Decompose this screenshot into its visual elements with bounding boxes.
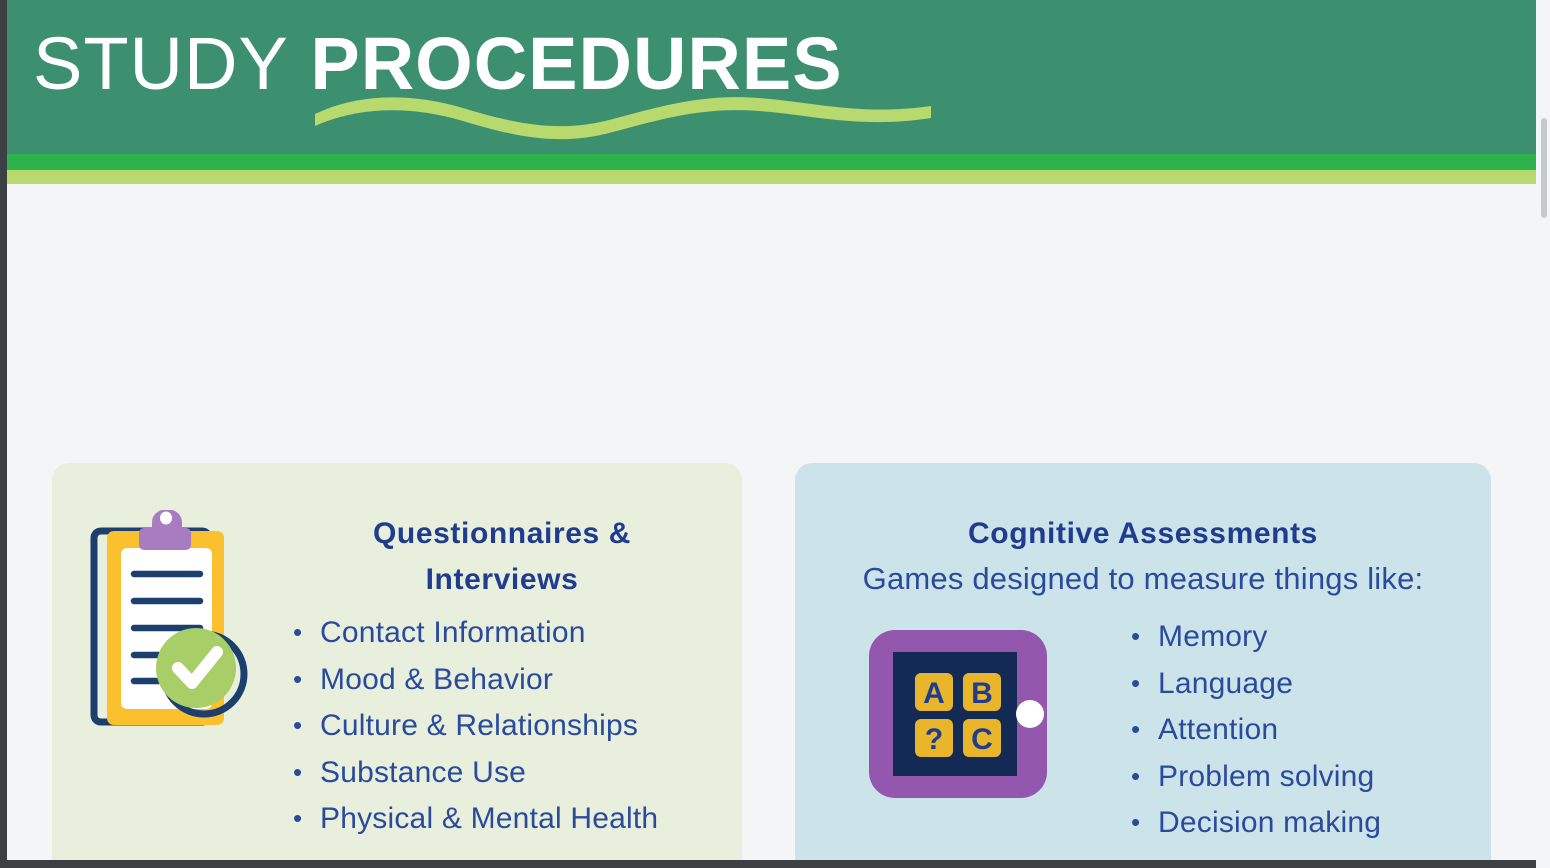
accent-bar-medium-green [7,154,1536,170]
list-item: Physical & Mental Health [293,796,722,843]
slide-header: STUDY PROCEDURES [7,0,1536,154]
left-card-text: Questionnaires & Interviews Contact Info… [282,511,722,843]
list-item: Contact Information [293,610,722,657]
right-card-heading-block: Cognitive Assessments Games designed to … [795,463,1491,601]
right-card-body: A B ? C Memory Language Attention Proble [795,601,1491,831]
right-card-bullet-list: Memory Language Attention Problem solvin… [1131,614,1381,847]
vertical-scrollbar[interactable] [1536,0,1550,868]
card-questionnaires-interviews: Questionnaires & Interviews Contact Info… [52,463,742,860]
list-item: Language [1131,661,1381,708]
right-card-title: Cognitive Assessments [795,511,1491,557]
left-card-title: Questionnaires & Interviews [282,511,722,603]
list-item: Attention [1131,707,1381,754]
right-card-text: Memory Language Attention Problem solvin… [1131,614,1381,847]
tablet-tile-letter-a: A [923,677,945,710]
list-item: Memory [1131,614,1381,661]
right-card-lead-text: Games designed to measure things like: [795,557,1491,601]
tablet-tile-letter-question: ? [925,723,943,756]
list-item: Problem solving [1131,754,1381,801]
scrollbar-thumb[interactable] [1541,118,1547,218]
tablet-game-icon: A B ? C [867,626,1077,801]
page-title: STUDY PROCEDURES [33,22,843,106]
list-item: Culture & Relationships [293,703,722,750]
slide-body: Questionnaires & Interviews Contact Info… [7,184,1536,860]
list-item: Decision making [1131,800,1381,847]
slide-canvas: STUDY PROCEDURES [7,0,1536,860]
left-card-bullet-list: Contact Information Mood & Behavior Cult… [282,610,722,843]
clipboard-check-icon [82,510,267,740]
presentation-viewer: STUDY PROCEDURES [0,0,1550,868]
left-card-title-line2: Interviews [426,563,579,596]
list-item: Mood & Behavior [293,657,722,704]
card-cognitive-assessments: Cognitive Assessments Games designed to … [795,463,1491,860]
title-word-bold: PROCEDURES [310,22,842,105]
list-item: Substance Use [293,750,722,797]
accent-bar-light-green [7,170,1536,184]
tablet-tile-letter-c: C [971,723,993,756]
left-card-title-line1: Questionnaires & [373,517,631,550]
title-word-light: STUDY [33,22,289,105]
tablet-tile-letter-b: B [971,677,993,710]
